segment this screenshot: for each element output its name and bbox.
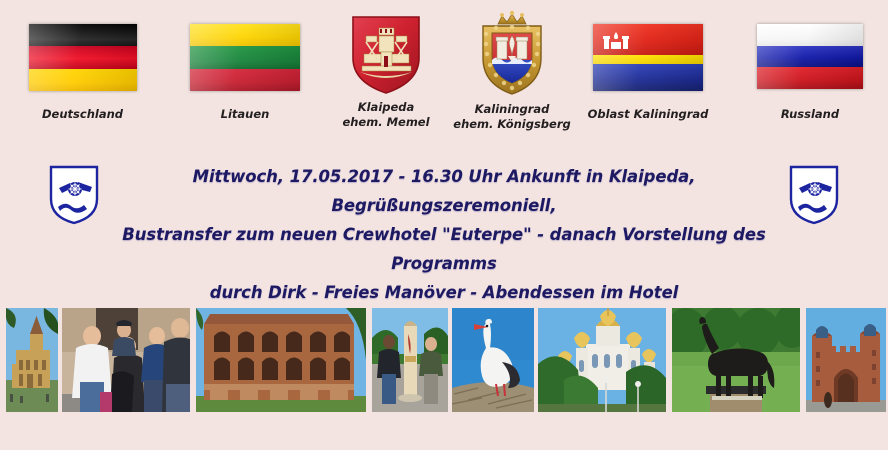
emblem-cell-litauen: Litauen xyxy=(170,24,320,122)
deutschland-flag xyxy=(10,24,155,91)
emblem-caption-kaliningrad-1: Kaliningrad xyxy=(452,102,572,117)
emblem-caption-russland: Russland xyxy=(740,107,880,122)
photo-pferdedenkmal[interactable] xyxy=(672,308,800,412)
emblem-caption-klaipeda-2: ehem. Memel xyxy=(327,115,445,130)
emblem-caption-litauen: Litauen xyxy=(170,107,320,122)
emblem-cell-deutschland: Deutschland xyxy=(10,24,155,122)
photo-koenigstor[interactable] xyxy=(806,308,886,412)
litauen-flag xyxy=(170,24,320,91)
emblem-caption-kaliningrad-2: ehem. Königsberg xyxy=(452,117,572,132)
emblem-caption-klaipeda-1: Klaipeda xyxy=(327,100,445,115)
photo-holzfigur[interactable] xyxy=(372,308,448,412)
emblem-caption-oblast-kaliningrad: Oblast Kaliningrad xyxy=(578,107,718,122)
cannon-shield-emblem-right xyxy=(788,165,840,225)
headline-text: Mittwoch, 17.05.2017 - 16.30 Uhr Ankunft… xyxy=(104,162,784,307)
emblem-cell-russland: Russland xyxy=(740,24,880,122)
klaipeda-coat-of-arms xyxy=(327,14,445,96)
cannon-shield-emblem-left xyxy=(48,165,100,225)
russland-flag xyxy=(740,24,880,89)
headline-line-3: durch Dirk - Freies Manöver - Abendessen… xyxy=(210,283,678,302)
emblem-cell-kaliningrad: Kaliningrad ehem. Königsberg xyxy=(452,10,572,132)
emblem-cell-klaipeda: Klaipeda ehem. Memel xyxy=(327,14,445,130)
kaliningrad-coat-of-arms xyxy=(452,10,572,98)
headline-block: Mittwoch, 17.05.2017 - 16.30 Uhr Ankunft… xyxy=(0,160,888,260)
headline-line-2: Bustransfer zum neuen Crewhotel "Euterpe… xyxy=(122,225,765,273)
photo-koenigsberg-cathedral[interactable] xyxy=(6,308,58,412)
slide-root: Deutschland Litauen xyxy=(0,0,888,450)
photo-orthodoxe-kathedrale[interactable] xyxy=(538,308,666,412)
photo-strip xyxy=(0,308,888,412)
oblast-kaliningrad-flag xyxy=(578,24,718,91)
emblem-cell-oblast-kaliningrad: Oblast Kaliningrad xyxy=(578,24,718,122)
photo-reisegruppe[interactable] xyxy=(62,308,190,412)
emblem-row: Deutschland Litauen xyxy=(0,0,888,140)
photo-storch-im-nest[interactable] xyxy=(452,308,534,412)
headline-line-1: Mittwoch, 17.05.2017 - 16.30 Uhr Ankunft… xyxy=(193,167,696,215)
emblem-caption-deutschland: Deutschland xyxy=(10,107,155,122)
photo-backsteinruine[interactable] xyxy=(196,308,366,412)
